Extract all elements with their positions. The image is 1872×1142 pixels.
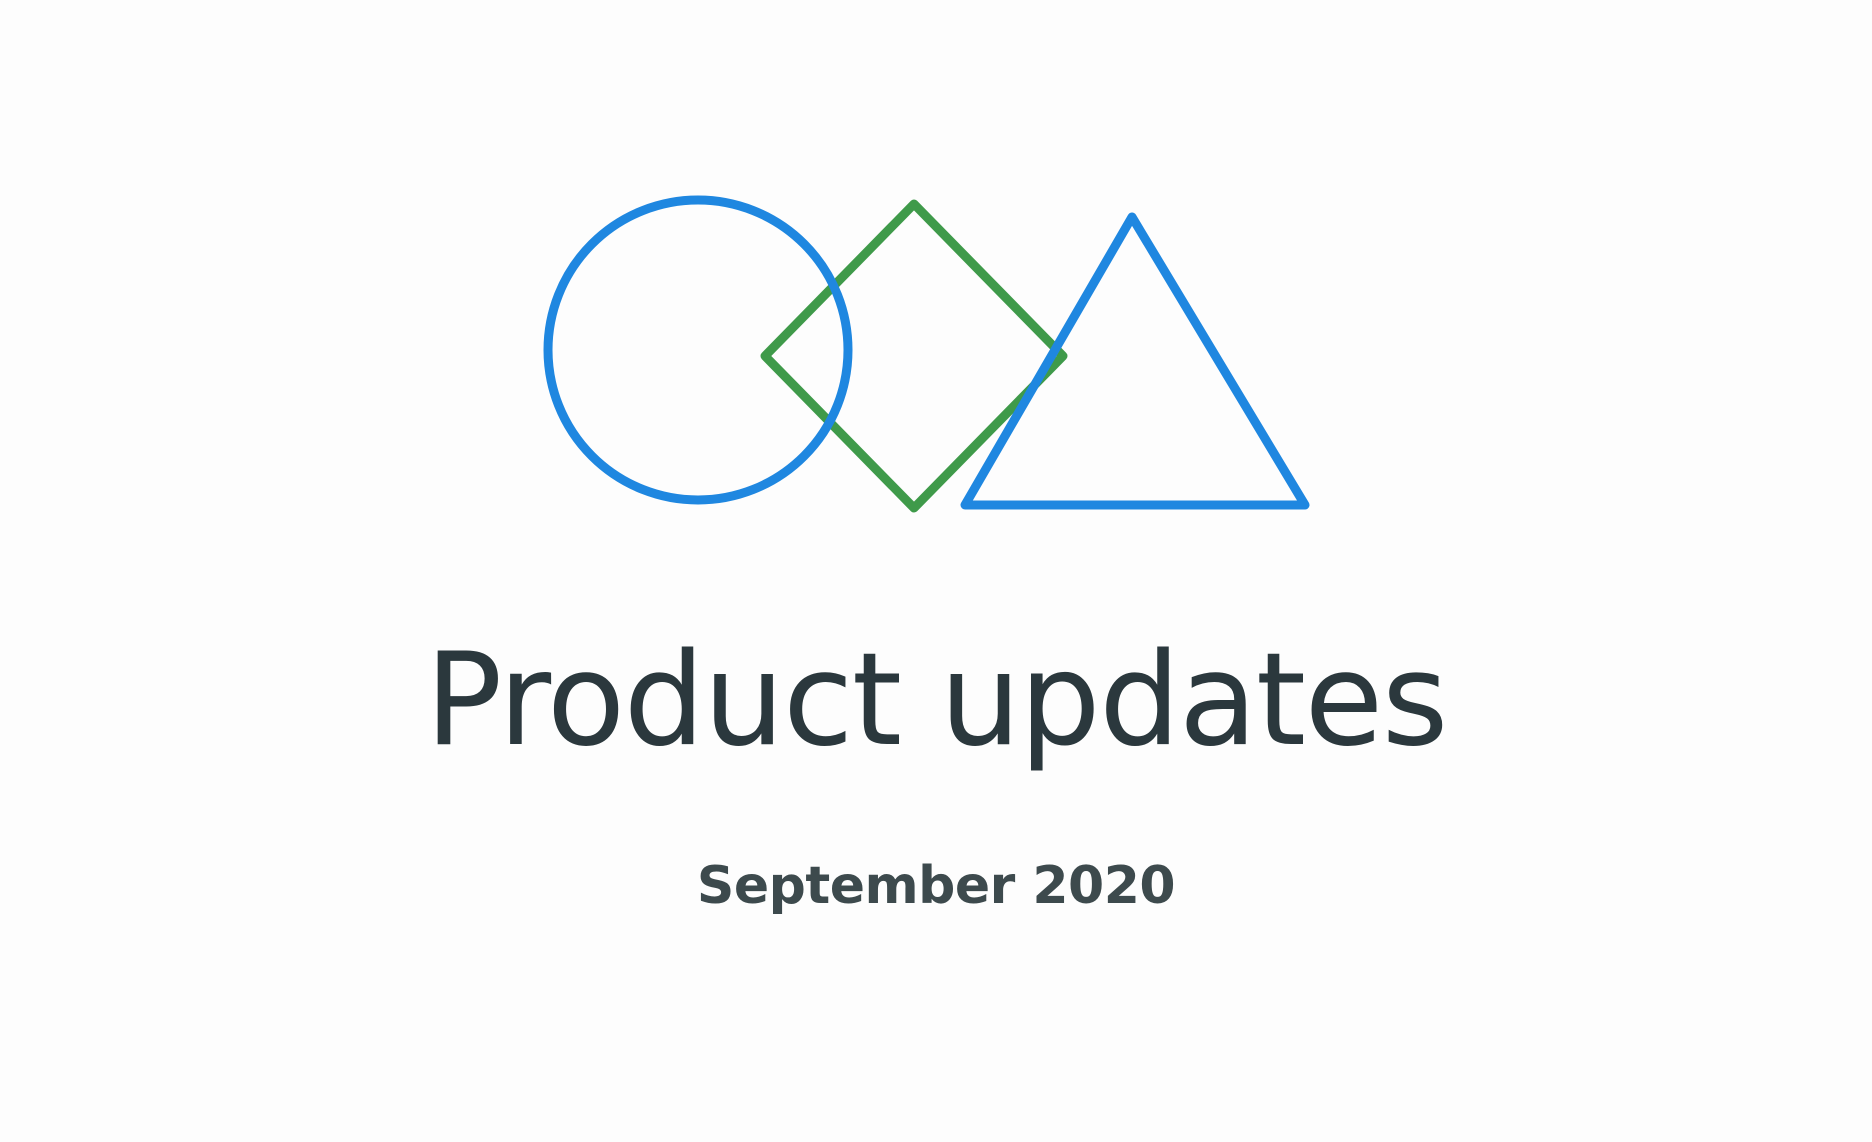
title-block: Product updates <box>0 636 1872 767</box>
page-title: Product updates <box>0 636 1872 767</box>
subtitle-block: September 2020 <box>0 855 1872 917</box>
circle-outline-icon <box>548 200 848 500</box>
triangle-outline-icon <box>965 217 1305 505</box>
product-updates-slide: Product updates September 2020 <box>0 0 1872 1142</box>
page-subtitle: September 2020 <box>0 855 1872 917</box>
three-shapes-logo <box>0 0 1872 620</box>
diamond-outline-icon <box>765 204 1063 508</box>
logo-svg <box>0 0 1872 620</box>
